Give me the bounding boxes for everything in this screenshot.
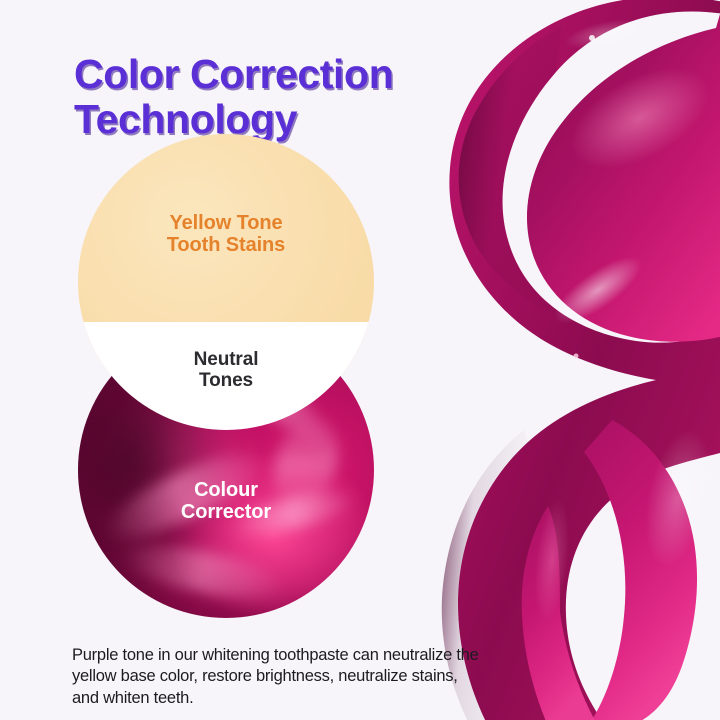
gel-highlight-2 bbox=[545, 245, 651, 334]
gel-shape-drip bbox=[522, 506, 598, 720]
venn-label-yellow-tone: Yellow Tone Tooth Stains bbox=[78, 212, 374, 257]
venn-label-colour-corrector: Colour Corrector bbox=[78, 479, 374, 524]
poster-canvas: Color Correction Technology Yellow Tone … bbox=[0, 0, 720, 720]
page-title-line-2: Technology bbox=[74, 99, 474, 139]
gel-highlight-5 bbox=[562, 14, 645, 54]
gel-shape-upper-right bbox=[527, 0, 720, 342]
gel-edge-shadow-upper bbox=[459, 26, 600, 332]
page-title: Color Correction Technology bbox=[74, 54, 474, 138]
gel-highlight-4 bbox=[530, 497, 575, 624]
gel-highlight-1 bbox=[554, 47, 720, 189]
gel-highlight-3 bbox=[634, 423, 720, 572]
caption-text: Purple tone in our whitening toothpaste … bbox=[72, 645, 487, 711]
gel-shape-main bbox=[449, 0, 720, 720]
venn-diagram: Yellow Tone Tooth Stains Neutral Tones C… bbox=[78, 134, 378, 618]
venn-label-neutral-tones: Neutral Tones bbox=[78, 349, 374, 392]
gel-circle-streak-d bbox=[116, 535, 291, 609]
gel-bubble-2 bbox=[574, 354, 579, 359]
gel-shape-tail bbox=[584, 420, 697, 720]
gel-bubble-1 bbox=[589, 35, 595, 41]
page-title-line-1: Color Correction bbox=[74, 54, 474, 94]
